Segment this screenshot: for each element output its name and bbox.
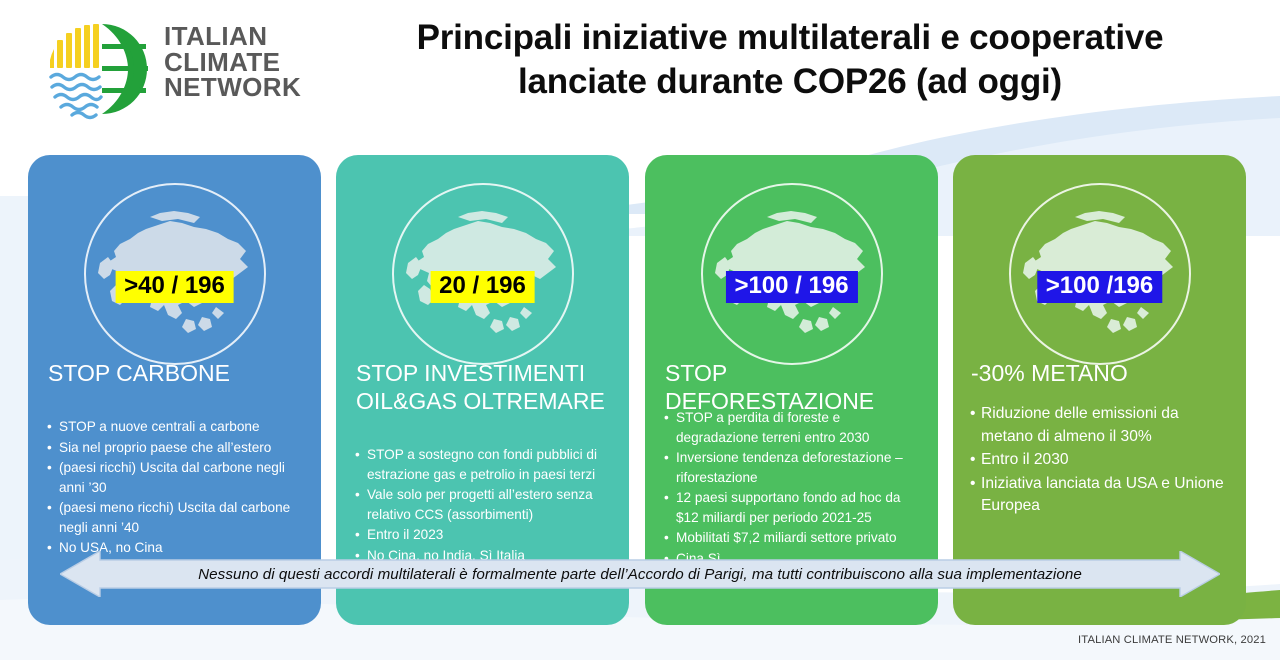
card-title-2: STOP DEFORESTAZIONE (665, 359, 924, 415)
footer-credit: ITALIAN CLIMATE NETWORK, 2021 (1078, 634, 1266, 646)
list-item: STOP a nuove centrali a carbone (46, 417, 309, 437)
bullet-list-3: Riduzione delle emissioni da metano di a… (969, 403, 1234, 519)
list-item: Mobilitati $7,2 miliardi settore privato (663, 528, 926, 548)
badge-count-0: >40 / 196 (115, 271, 234, 303)
bullet-list-0: STOP a nuove centrali a carbone Sia nel … (46, 417, 309, 559)
list-item: Inversione tendenza deforestazione – rif… (663, 448, 926, 487)
infographic-root: ITALIAN CLIMATE NETWORK Principali inizi… (0, 0, 1280, 660)
list-item: (paesi meno ricchi) Uscita dal carbone n… (46, 498, 309, 537)
list-item: Sia nel proprio paese che all’estero (46, 438, 309, 458)
globe-graphic-0: >40 / 196 (84, 183, 266, 365)
banner-text: Nessuno di questi accordi multilaterali … (60, 551, 1220, 597)
card-title-1: STOP INVESTIMENTI OIL&GAS OLTREMARE (356, 359, 615, 415)
list-item: Entro il 2030 (969, 449, 1234, 472)
double-arrow-banner: Nessuno di questi accordi multilaterali … (60, 551, 1220, 597)
list-item: STOP a sostegno con fondi pubblici di es… (354, 445, 617, 484)
card-title-3: -30% METANO (971, 359, 1232, 387)
list-item: Iniziativa lanciata da USA e Unione Euro… (969, 473, 1234, 518)
globe-graphic-1: 20 / 196 (392, 183, 574, 365)
list-item: 12 paesi supportano fondo ad hoc da $12 … (663, 488, 926, 527)
list-item: Riduzione delle emissioni da metano di a… (969, 403, 1234, 448)
badge-count-2: >100 / 196 (725, 271, 857, 303)
list-item: STOP a perdita di foreste e degradazione… (663, 408, 926, 447)
list-item: (paesi ricchi) Uscita dal carbone negli … (46, 458, 309, 497)
list-item: Vale solo per progetti all’estero senza … (354, 485, 617, 524)
globe-graphic-3: >100 /196 (1009, 183, 1191, 365)
bullet-list-1: STOP a sostegno con fondi pubblici di es… (354, 445, 617, 566)
card-title-0: STOP CARBONE (48, 359, 307, 387)
badge-count-1: 20 / 196 (430, 271, 535, 303)
list-item: Entro il 2023 (354, 525, 617, 545)
bullet-list-2: STOP a perdita di foreste e degradazione… (663, 408, 926, 569)
badge-count-3: >100 /196 (1037, 271, 1162, 303)
globe-graphic-2: >100 / 196 (701, 183, 883, 365)
